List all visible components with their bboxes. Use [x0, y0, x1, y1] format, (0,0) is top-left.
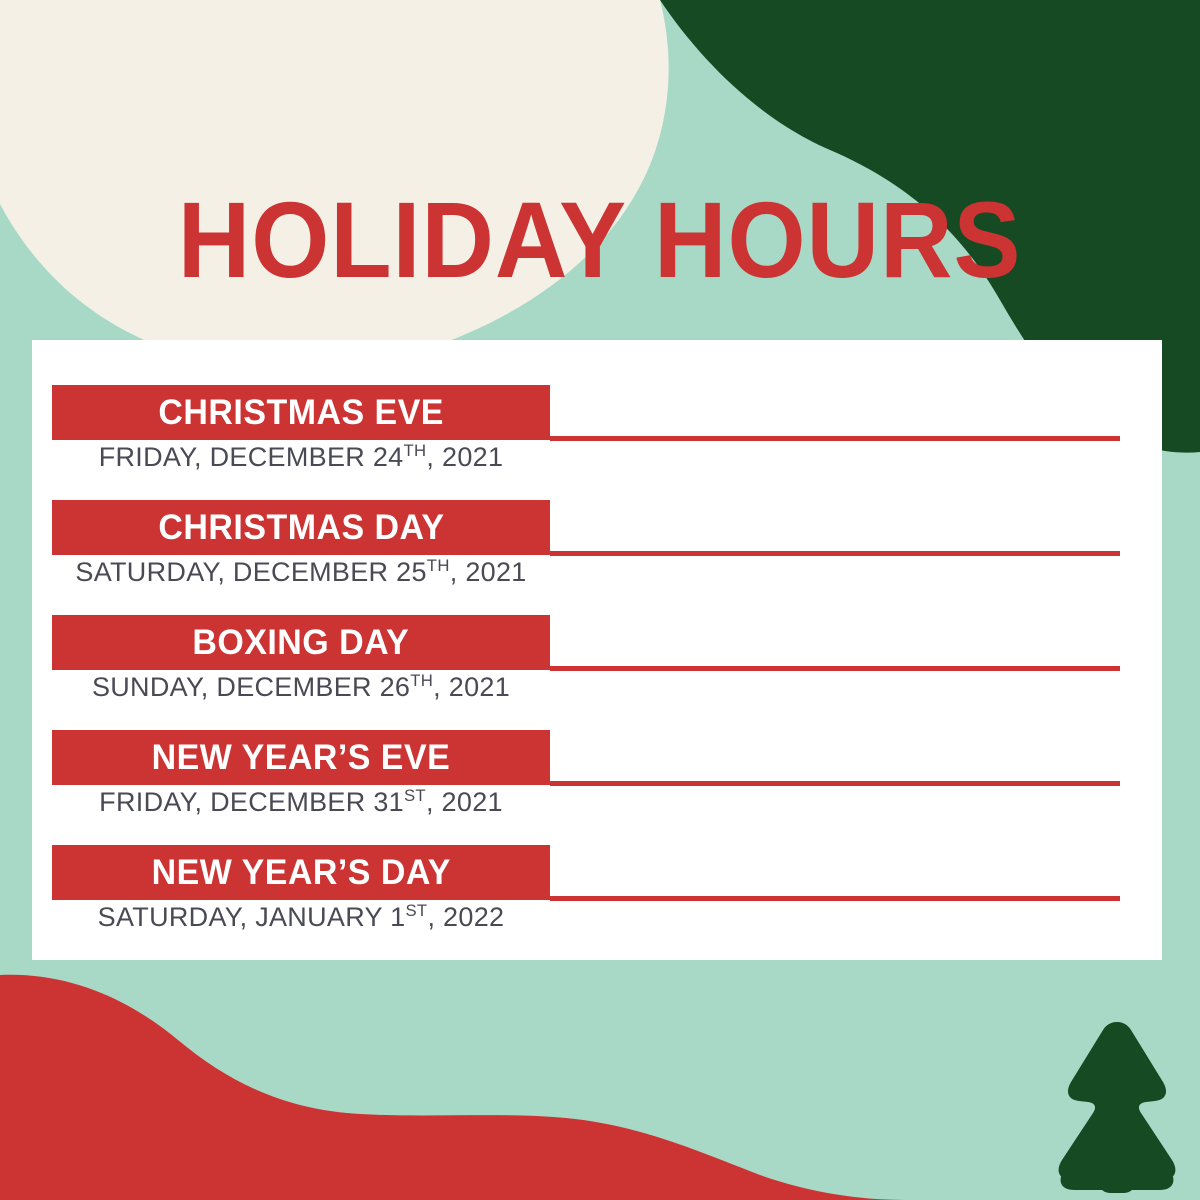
schedule-row: NEW YEAR’S DAY SATURDAY, JANUARY 1ST, 20… — [32, 800, 1162, 920]
page-title-wrap: HOLIDAY HOURS — [0, 186, 1200, 294]
hours-write-in-rule[interactable] — [550, 666, 1120, 671]
holiday-name-label: CHRISTMAS DAY — [158, 510, 444, 545]
holiday-name-banner: NEW YEAR’S DAY — [52, 845, 550, 900]
schedule-row: CHRISTMAS EVE FRIDAY, DECEMBER 24TH, 202… — [32, 340, 1162, 455]
holiday-hours-poster: HOLIDAY HOURS CHRISTMAS EVE FRIDAY, DECE… — [0, 0, 1200, 1200]
holiday-name-banner: CHRISTMAS DAY — [52, 500, 550, 555]
holiday-name-banner: NEW YEAR’S EVE — [52, 730, 550, 785]
hours-write-in-rule[interactable] — [550, 436, 1120, 441]
holiday-name-banner: BOXING DAY — [52, 615, 550, 670]
schedule-rows: CHRISTMAS EVE FRIDAY, DECEMBER 24TH, 202… — [32, 340, 1162, 920]
holiday-date-ordinal: ST — [405, 901, 427, 920]
schedule-row: CHRISTMAS DAY SATURDAY, DECEMBER 25TH, 2… — [32, 455, 1162, 570]
hours-write-in-rule[interactable] — [550, 551, 1120, 556]
holiday-name-label: NEW YEAR’S EVE — [152, 740, 451, 775]
holiday-date-weekday: SATURDAY, JANUARY 1 — [98, 902, 406, 932]
holiday-date: SATURDAY, JANUARY 1ST, 2022 — [52, 904, 550, 931]
holiday-name-label: NEW YEAR’S DAY — [151, 855, 450, 890]
schedule-card: CHRISTMAS EVE FRIDAY, DECEMBER 24TH, 202… — [32, 340, 1162, 960]
schedule-row: BOXING DAY SUNDAY, DECEMBER 26TH, 2021 — [32, 570, 1162, 685]
schedule-row: NEW YEAR’S EVE FRIDAY, DECEMBER 31ST, 20… — [32, 685, 1162, 800]
page-title: HOLIDAY HOURS — [178, 186, 1022, 294]
hours-write-in-rule[interactable] — [550, 896, 1120, 901]
hours-write-in-rule[interactable] — [550, 781, 1120, 786]
holiday-name-label: BOXING DAY — [193, 625, 410, 660]
holiday-name-label: CHRISTMAS EVE — [158, 395, 443, 430]
holiday-name-banner: CHRISTMAS EVE — [52, 385, 550, 440]
holiday-date-year: , 2022 — [427, 902, 504, 932]
